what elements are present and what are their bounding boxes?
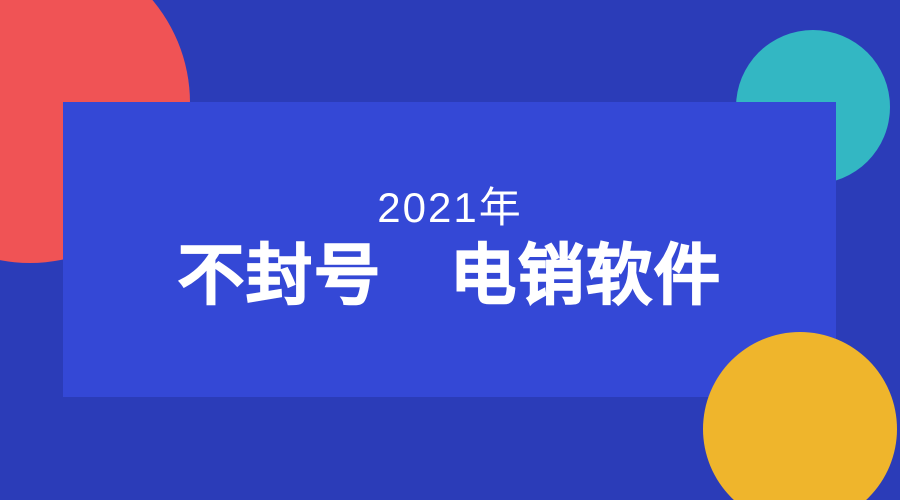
marketing-banner: 2021年 不封号 电销软件 [0,0,900,500]
content-panel [63,102,836,397]
